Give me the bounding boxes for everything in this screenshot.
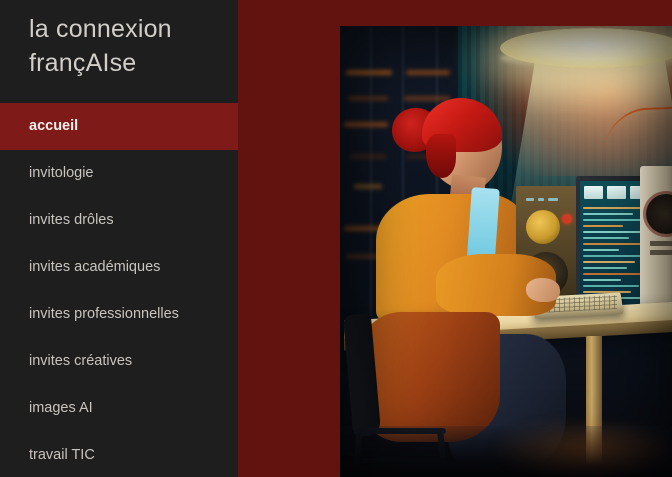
light-streak — [348, 96, 388, 101]
screen-window — [584, 186, 603, 199]
hand — [526, 278, 560, 302]
sidebar: la connexion françAIse accueil invitolog… — [0, 0, 238, 477]
app-root: la connexion françAIse accueil invitolog… — [0, 0, 672, 477]
site-title: la connexion françAIse — [29, 12, 229, 80]
light-streak — [344, 122, 388, 127]
sidebar-item-invites-creatives[interactable]: invites créatives — [0, 338, 238, 385]
drive-slot — [650, 250, 672, 255]
light-streak — [404, 96, 450, 101]
sidebar-item-label: invites drôles — [29, 212, 114, 228]
sidebar-item-invites-academiques[interactable]: invites académiques — [0, 244, 238, 291]
ceiling-lamp-icon — [500, 28, 672, 68]
sidebar-item-label: invitologie — [29, 165, 94, 181]
red-button-icon — [562, 214, 572, 224]
sidebar-item-label: invites professionnelles — [29, 306, 179, 322]
sidebar-item-accueil[interactable]: accueil — [0, 103, 238, 150]
light-streak — [406, 70, 450, 75]
sidebar-item-label: accueil — [29, 118, 78, 134]
light-streak — [354, 184, 382, 189]
dial-knob-icon — [526, 210, 560, 244]
led-indicator — [526, 198, 534, 201]
led-indicator — [548, 198, 558, 201]
sidebar-item-travail-tic[interactable]: travail TIC — [0, 432, 238, 477]
sidebar-item-invites-professionnelles[interactable]: invites professionnelles — [0, 291, 238, 338]
light-streak — [346, 70, 392, 75]
drive-slot — [650, 241, 672, 246]
screen-window — [607, 186, 626, 199]
sidebar-item-label: images AI — [29, 400, 93, 416]
floor-light-pool — [490, 418, 672, 477]
sidebar-item-label: travail TIC — [29, 447, 95, 463]
hero-image[interactable] — [340, 26, 672, 477]
sidebar-item-invitologie[interactable]: invitologie — [0, 150, 238, 197]
sidebar-item-label: invites académiques — [29, 259, 160, 275]
sidebar-item-label: invites créatives — [29, 353, 132, 369]
sidebar-nav: accueil invitologie invites drôles invit… — [0, 103, 238, 477]
led-indicator — [538, 198, 544, 201]
coat-skirt — [360, 312, 500, 442]
sidebar-item-invites-droles[interactable]: invites drôles — [0, 197, 238, 244]
hair-side — [426, 134, 456, 178]
sidebar-item-images-ai[interactable]: images AI — [0, 385, 238, 432]
light-streak — [350, 154, 386, 159]
